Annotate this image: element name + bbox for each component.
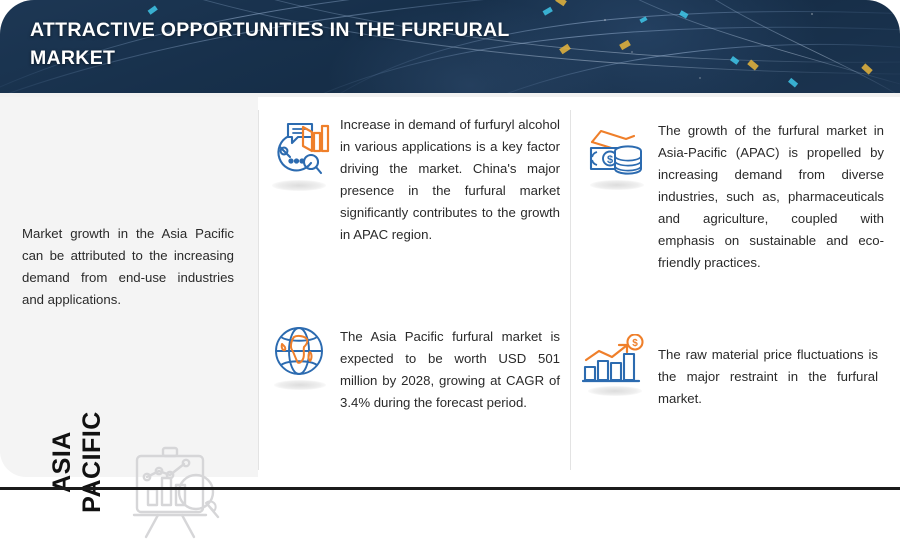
icon-shadow — [590, 180, 644, 190]
column-divider-left — [258, 110, 259, 470]
money-coins-icon: $ — [588, 122, 646, 180]
insight-text: The raw material price fluctuations is t… — [658, 344, 878, 410]
presentation-chart-magnifier-icon — [118, 445, 230, 545]
infographic-page: ATTRACTIVE OPPORTUNITIES IN THE FURFURAL… — [0, 0, 900, 491]
header-banner: ATTRACTIVE OPPORTUNITIES IN THE FURFURAL… — [0, 0, 900, 93]
insight-text: Increase in demand of furfuryl alcohol i… — [340, 114, 560, 246]
page-title: ATTRACTIVE OPPORTUNITIES IN THE FURFURAL… — [30, 16, 550, 72]
market-analysis-percent-icon — [268, 118, 330, 180]
region-label: ASIA PACIFIC — [47, 377, 107, 547]
svg-text:$: $ — [607, 154, 613, 166]
column-divider-right — [570, 110, 571, 470]
insight-text: The Asia Pacific furfural market is expe… — [340, 326, 560, 414]
insight-text: The growth of the furfural market in Asi… — [658, 120, 884, 274]
icon-shadow — [588, 386, 642, 396]
globe-icon — [270, 322, 328, 380]
summary-text: Market growth in the Asia Pacific can be… — [22, 223, 234, 311]
icon-shadow — [272, 180, 326, 191]
icon-shadow — [274, 380, 326, 390]
left-summary-panel: Market growth in the Asia Pacific can be… — [0, 97, 258, 477]
growth-chart-dollar-icon: $ — [582, 334, 646, 386]
svg-text:$: $ — [632, 338, 638, 349]
bottom-rule — [0, 487, 900, 490]
